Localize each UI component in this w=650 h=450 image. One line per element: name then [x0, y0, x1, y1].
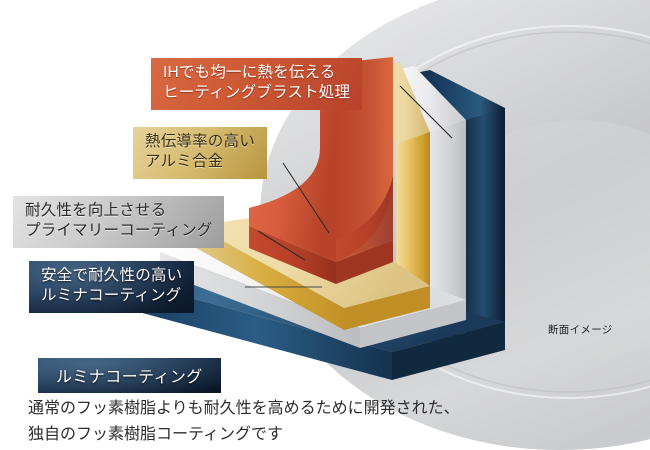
callout-heating-blast[interactable]: IHでも均一に熱を伝える ヒーティングブラスト処理: [151, 58, 362, 110]
callout-aluminium-alloy[interactable]: 熱伝導率の高い アルミ合金: [133, 127, 267, 179]
figure-canvas: IHでも均一に熱を伝える ヒーティングブラスト処理 熱伝導率の高い アルミ合金 …: [0, 0, 650, 450]
section-badge-lumina-coating: ルミナコーティング: [38, 358, 221, 393]
section-description: 通常のフッ素樹脂よりも耐久性を高めるために開発された、 独自のフッ素樹脂コーティ…: [28, 396, 628, 449]
callout-primary-coating[interactable]: 耐久性を向上させる プライマリーコーティング: [13, 196, 224, 248]
callout-lumina-coating[interactable]: 安全で耐久性の高い ルミナコーティング: [29, 261, 194, 313]
cross-section-caption: 断面イメージ: [548, 322, 613, 337]
